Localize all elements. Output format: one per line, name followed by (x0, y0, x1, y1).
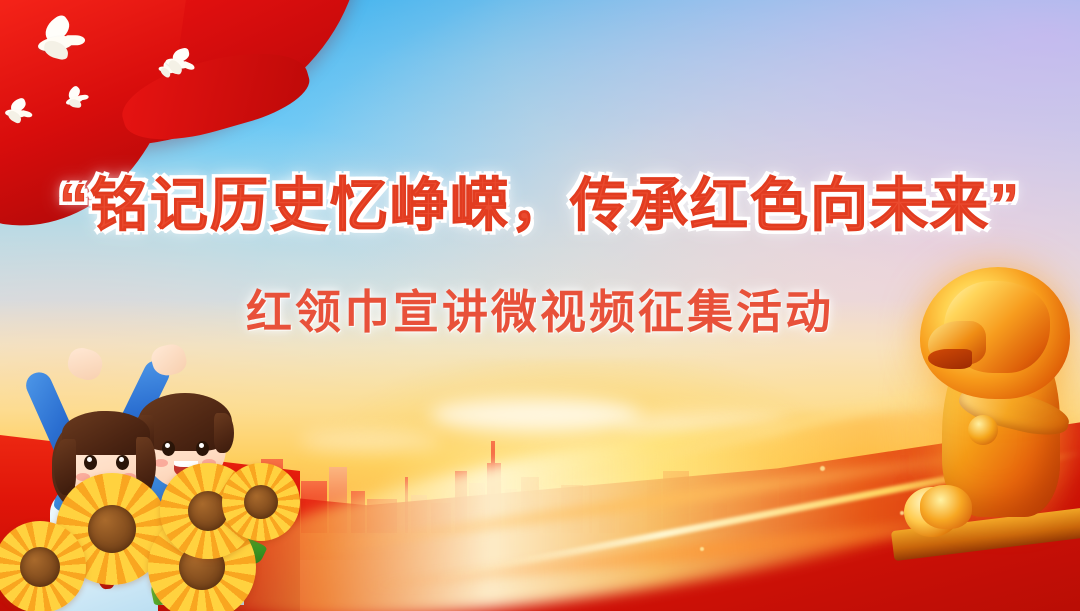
sparkle-3 (700, 547, 704, 551)
sparkle-1 (820, 466, 825, 471)
lion-jaw (928, 349, 972, 369)
page-subtitle: 红领巾宣讲微视频征集活动 (0, 276, 1080, 342)
golden-guardian-lion-statue (898, 211, 1080, 541)
page-title: “铭记历史忆峥嵘，传承红色向未来” (0, 158, 1080, 242)
lion-bell (968, 415, 998, 445)
sunflower-5 (222, 463, 300, 541)
sunflower-2 (0, 521, 86, 611)
lion-paw (920, 485, 972, 529)
poster-canvas: “铭记历史忆峥嵘，传承红色向未来” 红领巾宣讲微视频征集活动 (0, 0, 1080, 611)
